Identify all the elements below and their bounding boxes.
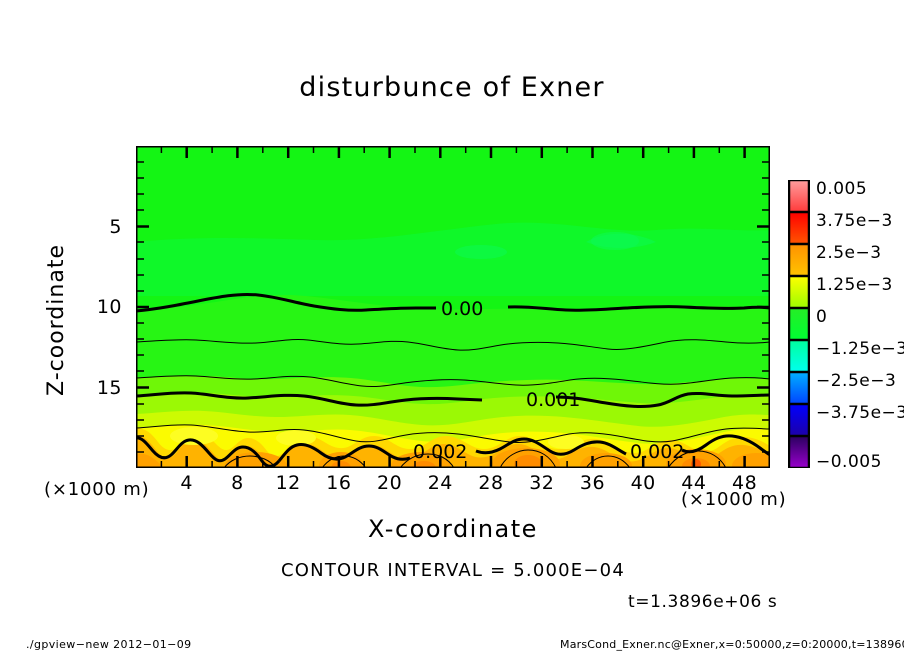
x-tick-label-4: 4: [167, 472, 207, 494]
colorbar-band-2: [789, 244, 809, 276]
x-axis-title: X-coordinate: [136, 515, 770, 543]
x-unit-label-right: (×1000 m): [681, 489, 786, 510]
footer-command: ./gpview−new 2012−01−09: [26, 638, 192, 651]
contour-label-0: 0.00: [441, 298, 483, 320]
colorbar-label-8: −0.005: [816, 452, 882, 472]
colorbar: 0.005 3.75e−3 2.5e−3 1.25e−3 0 −1.25e−3 …: [788, 180, 810, 468]
plot-page: disturbunce of Exner: [0, 0, 904, 654]
x-tick-label-8: 8: [217, 472, 257, 494]
colorbar-label-4: 0: [816, 307, 827, 327]
contour-label-3: 0.002: [630, 441, 684, 463]
colorbar-label-7: −3.75e−3: [816, 403, 904, 423]
colorbar-band-1: [789, 212, 809, 244]
x-tick-label-36: 36: [573, 472, 613, 494]
y-tick-label-10: 10: [80, 296, 122, 318]
colorbar-label-0: 0.005: [816, 179, 867, 199]
contour-interval-annotation: CONTOUR INTERVAL = 5.000E−04: [136, 560, 770, 581]
x-tick-label-32: 32: [522, 472, 562, 494]
x-tick-label-28: 28: [471, 472, 511, 494]
x-unit-label-left: (×1000 m): [44, 479, 149, 500]
footer-dataset: MarsCond_Exner.nc@Exner,x=0:50000,z=0:20…: [560, 638, 904, 651]
x-tick-label-16: 16: [319, 472, 359, 494]
colorbar-label-6: −2.5e−3: [816, 371, 896, 391]
colorbar-label-2: 2.5e−3: [816, 243, 882, 263]
y-axis-title: Z-coordinate: [44, 220, 69, 420]
colorbar-label-3: 1.25e−3: [816, 275, 893, 295]
colorbar-band-8: [789, 436, 809, 468]
fill-blob-yellow-1: [170, 427, 218, 445]
x-tick-label-12: 12: [268, 472, 308, 494]
page-title: disturbunce of Exner: [0, 72, 904, 103]
colorbar-band-7: [789, 404, 809, 436]
y-tick-label-15: 15: [80, 377, 122, 399]
colorbar-label-5: −1.25e−3: [816, 339, 904, 359]
contour-plot-canvas: 0.00 0.001 0.002 0.002: [136, 146, 770, 468]
y-tick-label-5: 5: [80, 216, 122, 238]
time-annotation: t=1.3896e+06 s: [628, 592, 777, 612]
colorbar-band-6: [789, 372, 809, 404]
contour-label-1: 0.001: [526, 389, 580, 411]
colorbar-label-1: 3.75e−3: [816, 211, 893, 231]
colorbar-band-3: [789, 276, 809, 308]
fill-blob-1: [455, 245, 507, 259]
x-tick-label-20: 20: [370, 472, 410, 494]
x-tick-label-24: 24: [420, 472, 460, 494]
colorbar-band-4: [789, 308, 809, 340]
x-tick-label-40: 40: [623, 472, 663, 494]
colorbar-band-0: [789, 180, 809, 212]
colorbar-band-5: [789, 340, 809, 372]
fill-blob-yellow-2: [276, 430, 316, 446]
